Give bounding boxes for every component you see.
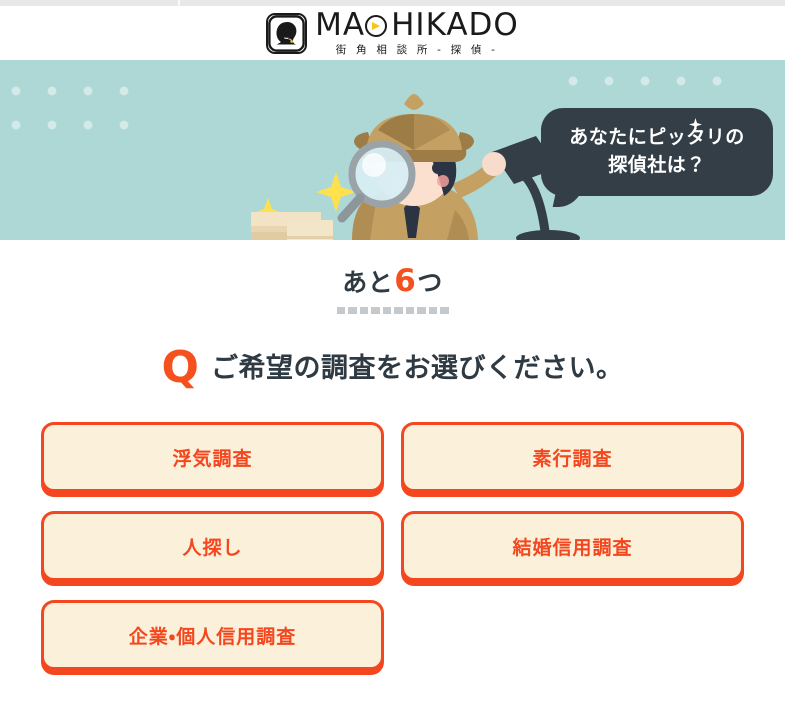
remaining-counter-text: あと6つ <box>0 266 785 297</box>
counter-number: 6 <box>393 263 417 299</box>
question-heading: Q ご希望の調査をお選びください。 <box>0 346 785 390</box>
pipe-o-icon <box>365 10 391 41</box>
sparkle-icon <box>689 118 702 131</box>
logo-letters-right: HIKADO <box>391 10 519 41</box>
progress-segment <box>337 307 346 314</box>
remaining-counter: あと6つ <box>0 266 785 314</box>
logo-wordmark: MA HIKADO <box>315 10 519 41</box>
option-button-3[interactable]: 結婚信用調査 <box>401 511 744 581</box>
site-header: MA HIKADO 街 角 相 談 所 - 探 偵 - <box>0 6 785 60</box>
progress-segment <box>360 307 369 314</box>
detective-silhouette-icon <box>266 13 307 54</box>
counter-suffix: つ <box>417 268 443 297</box>
option-button-1[interactable]: 素行調査 <box>401 422 744 492</box>
counter-prefix: あと <box>342 268 393 297</box>
logo-type: MA HIKADO 街 角 相 談 所 - 探 偵 - <box>315 10 519 56</box>
site-container: MA HIKADO 街 角 相 談 所 - 探 偵 - <box>0 6 785 703</box>
progress-segment <box>383 307 392 314</box>
progress-segment <box>371 307 380 314</box>
option-button-2[interactable]: 人探し <box>41 511 384 581</box>
logo[interactable]: MA HIKADO 街 角 相 談 所 - 探 偵 - <box>266 10 519 56</box>
progress-segment <box>348 307 357 314</box>
page-root: MA HIKADO 街 角 相 談 所 - 探 偵 - <box>0 0 800 703</box>
speech-bubble-line-1: あなたにピッタリの <box>569 124 745 152</box>
progress-segment <box>394 307 403 314</box>
progress-segment <box>417 307 426 314</box>
progress-segment <box>429 307 438 314</box>
logo-letters-left: MA <box>315 10 365 41</box>
question-text: ご希望の調査をお選びください。 <box>211 355 624 382</box>
logo-subtitle: 街 角 相 談 所 - 探 偵 - <box>336 45 498 56</box>
option-button-4[interactable]: 企業・個人信用調査 <box>41 600 384 670</box>
progress-bar <box>337 307 449 314</box>
option-list: 浮気調査 素行調査 人探し 結婚信用調査 企業・個人信用調査 <box>41 422 744 670</box>
option-button-0[interactable]: 浮気調査 <box>41 422 384 492</box>
question-marker: Q <box>162 346 199 390</box>
progress-segment <box>406 307 415 314</box>
speech-bubble-line-2: 探偵社は？ <box>608 152 706 180</box>
speech-bubble: あなたにピッタリの 探偵社は？ <box>541 108 773 196</box>
hero-banner: あなたにピッタリの 探偵社は？ <box>0 60 785 240</box>
progress-segment <box>440 307 449 314</box>
